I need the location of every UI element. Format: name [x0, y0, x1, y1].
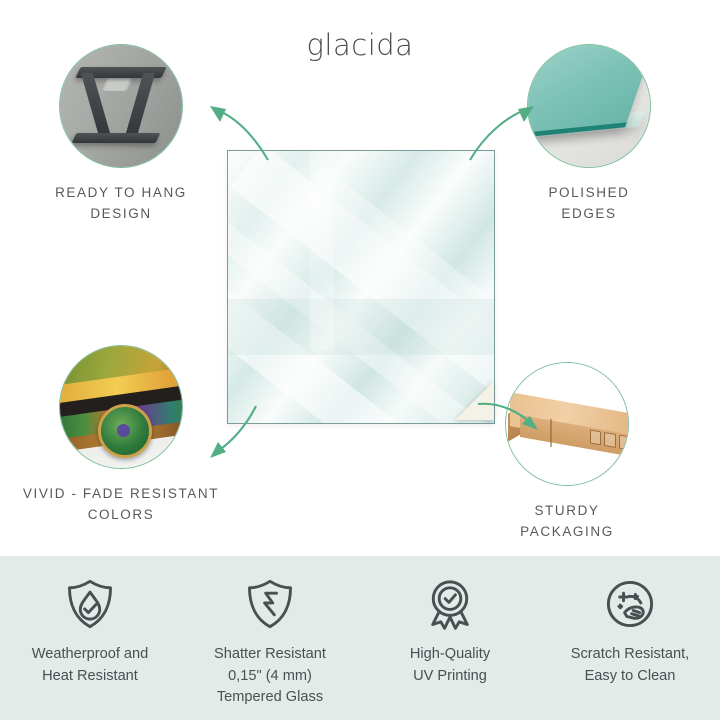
wiping-hand-sparkle-icon [603, 577, 657, 631]
feature-ready-to-hang: READY TO HANG DESIGN [16, 44, 226, 225]
award-badge-check-icon [423, 577, 477, 631]
shield-droplet-check-icon [63, 577, 117, 631]
benefit-uv-printing: High-Quality UV Printing [360, 556, 540, 720]
benefits-band: Weatherproof and Heat Resistant Shatter … [0, 556, 720, 720]
benefit-text: Shatter Resistant 0,15" (4 mm) Tempered … [214, 644, 326, 709]
arrow-to-vivid-colors [196, 404, 266, 466]
feature-caption: VIVID - FADE RESISTANT COLORS [16, 484, 226, 526]
benefit-shatter-resistant: Shatter Resistant 0,15" (4 mm) Tempered … [180, 556, 360, 720]
vivid-colors-image [59, 345, 183, 469]
arrow-to-polished-edges [466, 100, 548, 165]
benefit-text: High-Quality UV Printing [410, 644, 490, 687]
shield-bolt-icon [243, 577, 297, 631]
benefit-weatherproof: Weatherproof and Heat Resistant [0, 556, 180, 720]
feature-caption: POLISHED EDGES [484, 183, 694, 225]
benefit-scratch-resistant: Scratch Resistant, Easy to Clean [540, 556, 720, 720]
feature-caption: STURDY PACKAGING [462, 501, 672, 543]
colorful-artwork-icon [60, 346, 182, 468]
arrow-to-ready-to-hang [196, 100, 276, 165]
hanging-bracket-icon [60, 45, 182, 167]
ready-to-hang-image [59, 44, 183, 168]
benefit-text: Weatherproof and Heat Resistant [32, 644, 149, 687]
arrow-to-sturdy-packaging [476, 390, 560, 438]
feature-caption: READY TO HANG DESIGN [16, 183, 226, 225]
feature-vivid-colors: VIVID - FADE RESISTANT COLORS [16, 345, 226, 526]
benefit-text: Scratch Resistant, Easy to Clean [571, 644, 689, 687]
